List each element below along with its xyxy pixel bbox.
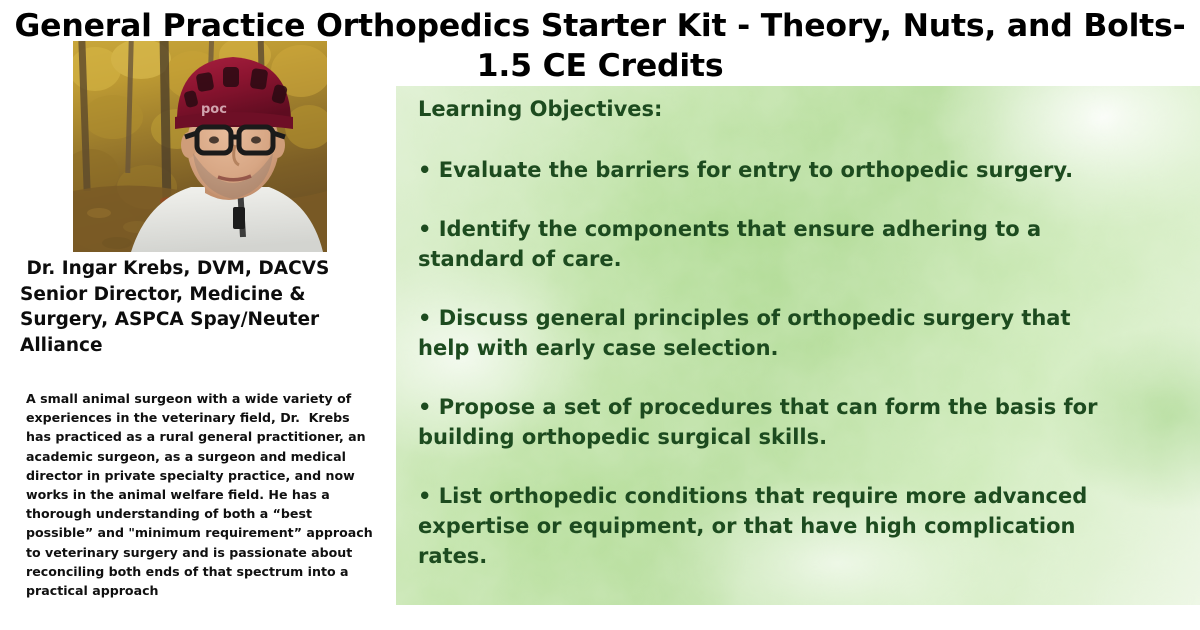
presenter-name-and-role: Dr. Ingar Krebs, DVM, DACVS Senior Direc… [20, 256, 380, 358]
presenter-column: poc Dr. Ingar Krebs, DVM, DACVS Senior D… [0, 41, 390, 630]
presenter-bio: A small animal surgeon with a wide varie… [26, 389, 378, 600]
slide-title-line-1: General Practice Orthopedics Starter Kit… [0, 6, 1200, 46]
objective-item-2: • Identify the components that ensure ad… [418, 214, 1118, 274]
objective-item-1: • Evaluate the barriers for entry to ort… [418, 155, 1118, 185]
objective-item-5: • List orthopedic conditions that requir… [418, 481, 1118, 571]
objective-item-4: • Propose a set of procedures that can f… [418, 392, 1118, 452]
svg-text:poc: poc [201, 102, 227, 117]
objectives-heading: Learning Objectives: [418, 95, 1170, 123]
learning-objectives-panel: Learning Objectives: • Evaluate the barr… [396, 86, 1200, 605]
objective-item-3: • Discuss general principles of orthoped… [418, 303, 1118, 363]
presenter-photo: poc [73, 41, 327, 252]
presenter-photo-image: poc [73, 41, 327, 252]
objectives-content: Learning Objectives: • Evaluate the barr… [396, 86, 1200, 605]
